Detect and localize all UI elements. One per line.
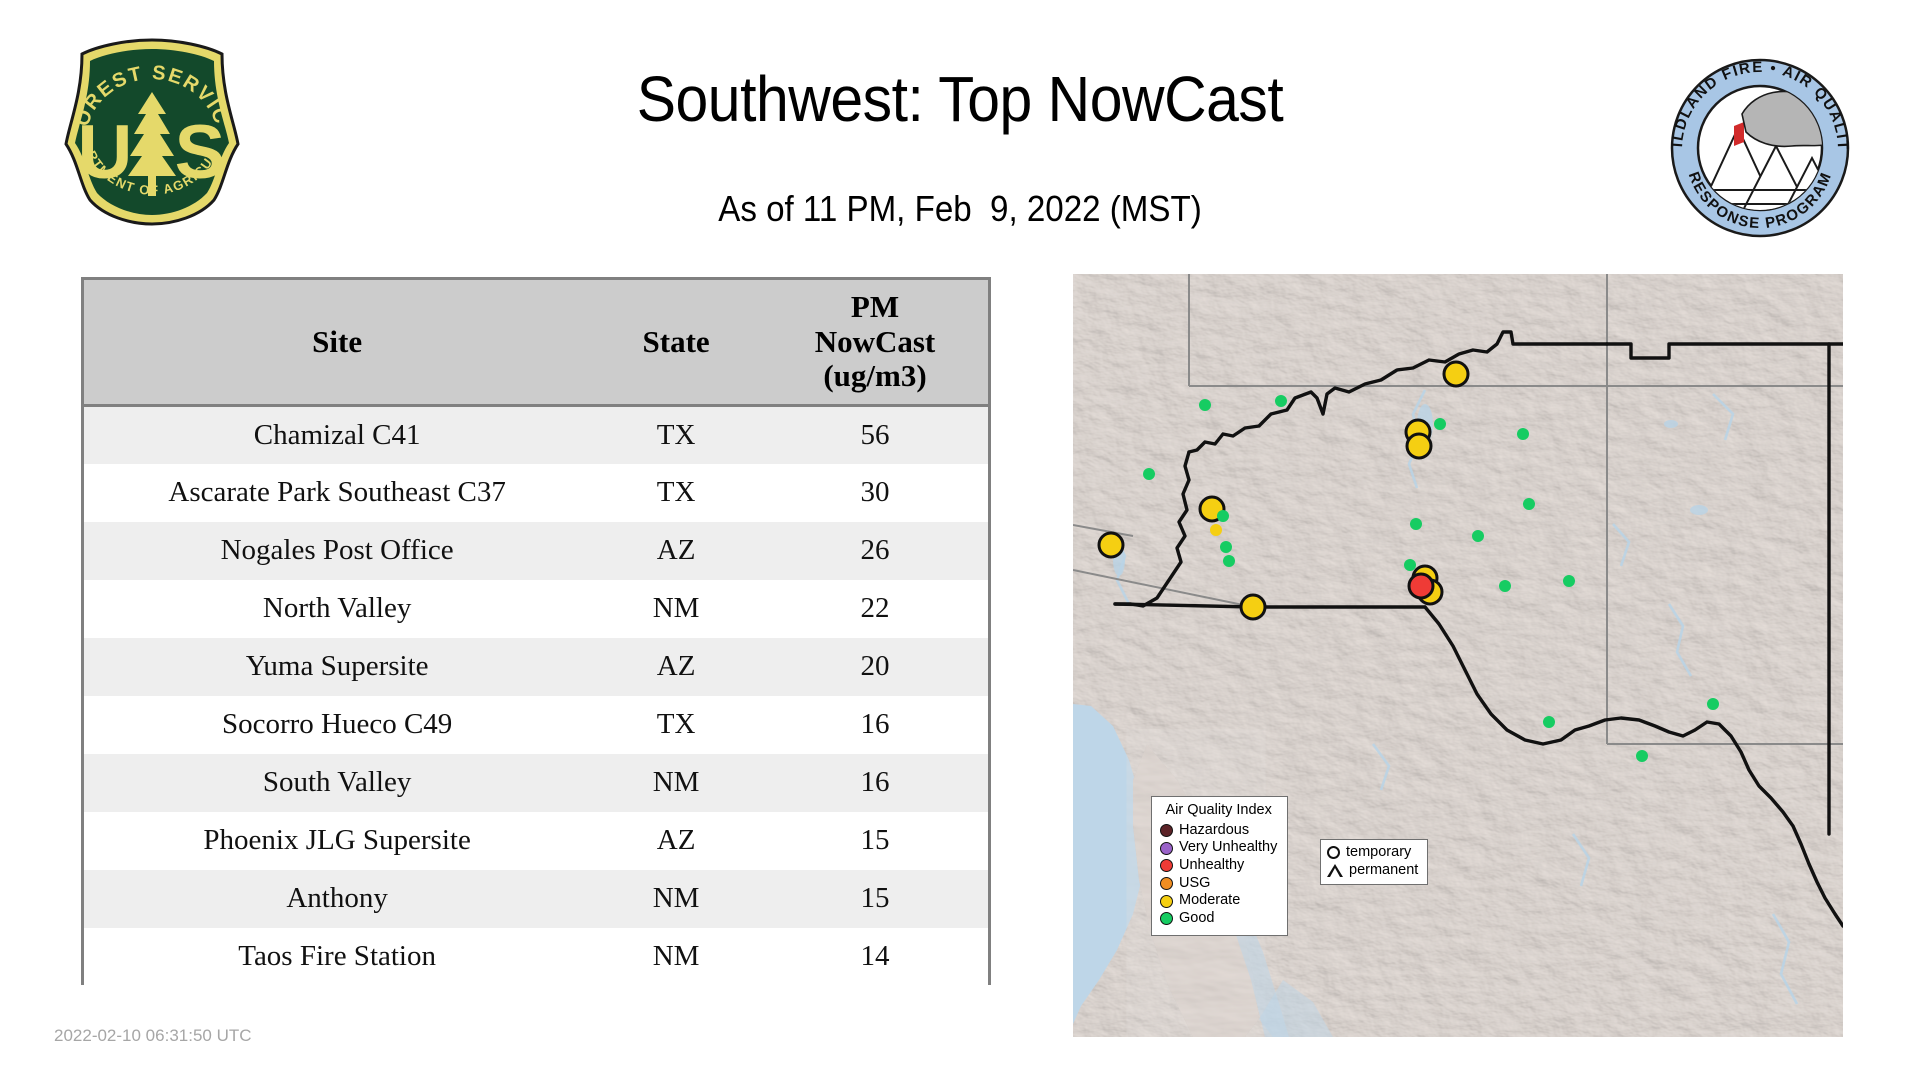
monitor-marker[interactable] xyxy=(1275,395,1287,407)
table-header-row: Site State PM NowCast (ug/m3) xyxy=(84,280,988,406)
table-row: Chamizal C41TX56 xyxy=(84,406,988,464)
cell-pm: 56 xyxy=(762,406,988,464)
cell-site: Nogales Post Office xyxy=(84,522,590,580)
monitor-marker[interactable] xyxy=(1523,498,1535,510)
cell-pm: 30 xyxy=(762,464,988,522)
monitor-marker[interactable] xyxy=(1220,541,1232,553)
svg-text:S: S xyxy=(175,110,226,195)
monitor-marker[interactable] xyxy=(1707,698,1719,710)
temporary-monitor-icon xyxy=(1327,846,1340,859)
table-row: Ascarate Park Southeast C37TX30 xyxy=(84,464,988,522)
southwest-aqi-map[interactable]: Air Quality Index HazardousVery Unhealth… xyxy=(1073,274,1843,1037)
table-row: Yuma SupersiteAZ20 xyxy=(84,638,988,696)
legend-label-temporary: temporary xyxy=(1346,844,1411,862)
cell-state: NM xyxy=(590,870,762,928)
aqi-legend-label: Unhealthy xyxy=(1179,857,1244,875)
aqi-legend-label: Good xyxy=(1179,910,1214,928)
wfaqrp-logo: WILDLAND FIRE • AIR QUALITY RESPONSE PRO… xyxy=(1660,50,1860,245)
table-row: Taos Fire StationNM14 xyxy=(84,928,988,986)
cell-state: AZ xyxy=(590,638,762,696)
column-header-site: Site xyxy=(84,280,590,406)
cell-pm: 15 xyxy=(762,812,988,870)
table-row: North ValleyNM22 xyxy=(84,580,988,638)
cell-site: Chamizal C41 xyxy=(84,406,590,464)
top-nowcast-table: Site State PM NowCast (ug/m3) Chamizal C… xyxy=(81,277,991,985)
monitor-marker[interactable] xyxy=(1407,434,1431,458)
legend-row-temporary: temporary xyxy=(1327,844,1418,862)
aqi-swatch-icon xyxy=(1160,895,1173,908)
cell-pm: 16 xyxy=(762,754,988,812)
aqi-legend-label: USG xyxy=(1179,875,1210,893)
monitor-marker[interactable] xyxy=(1517,428,1529,440)
cell-state: AZ xyxy=(590,522,762,580)
monitor-marker[interactable] xyxy=(1472,530,1484,542)
table-row: Socorro Hueco C49TX16 xyxy=(84,696,988,754)
monitor-marker[interactable] xyxy=(1143,468,1155,480)
aqi-swatch-icon xyxy=(1160,877,1173,890)
legend-label-permanent: permanent xyxy=(1349,862,1418,880)
aqi-legend-row: Hazardous xyxy=(1160,822,1277,840)
aqi-swatch-icon xyxy=(1160,859,1173,872)
cell-state: NM xyxy=(590,580,762,638)
monitor-marker[interactable] xyxy=(1563,575,1575,587)
aqi-legend-label: Moderate xyxy=(1179,892,1240,910)
cell-site: Ascarate Park Southeast C37 xyxy=(84,464,590,522)
legend-row-permanent: permanent xyxy=(1327,862,1418,880)
aqi-legend-row: Good xyxy=(1160,910,1277,928)
monitor-marker[interactable] xyxy=(1223,555,1235,567)
generated-timestamp: 2022-02-10 06:31:50 UTC xyxy=(54,1026,252,1046)
monitor-marker[interactable] xyxy=(1241,595,1265,619)
cell-state: TX xyxy=(590,406,762,464)
monitor-marker[interactable] xyxy=(1434,418,1446,430)
svg-text:U: U xyxy=(78,110,133,195)
column-header-pm-nowcast: PM NowCast (ug/m3) xyxy=(762,280,988,406)
cell-pm: 16 xyxy=(762,696,988,754)
column-header-state: State xyxy=(590,280,762,406)
cell-site: Phoenix JLG Supersite xyxy=(84,812,590,870)
cell-pm: 22 xyxy=(762,580,988,638)
cell-site: Socorro Hueco C49 xyxy=(84,696,590,754)
aqi-legend-label: Very Unhealthy xyxy=(1179,839,1277,857)
monitor-marker[interactable] xyxy=(1636,750,1648,762)
monitor-marker[interactable] xyxy=(1210,524,1222,536)
page-title: Southwest: Top NowCast xyxy=(353,62,1567,136)
cell-pm: 26 xyxy=(762,522,988,580)
aqi-legend-row: USG xyxy=(1160,875,1277,893)
cell-site: Anthony xyxy=(84,870,590,928)
slide-root: FOREST SERVICE DEPARTMENT OF AGRICULTURE… xyxy=(0,0,1920,1080)
monitor-marker[interactable] xyxy=(1199,399,1211,411)
permanent-monitor-icon xyxy=(1327,864,1343,877)
monitor-marker[interactable] xyxy=(1410,518,1422,530)
cell-state: NM xyxy=(590,928,762,986)
cell-site: North Valley xyxy=(84,580,590,638)
aqi-swatch-icon xyxy=(1160,842,1173,855)
monitor-marker[interactable] xyxy=(1444,362,1468,386)
cell-pm: 20 xyxy=(762,638,988,696)
aqi-legend-row: Unhealthy xyxy=(1160,857,1277,875)
cell-state: TX xyxy=(590,464,762,522)
page-subtitle: As of 11 PM, Feb 9, 2022 (MST) xyxy=(353,188,1567,230)
aqi-legend-label: Hazardous xyxy=(1179,822,1249,840)
cell-site: Taos Fire Station xyxy=(84,928,590,986)
monitor-marker[interactable] xyxy=(1217,510,1229,522)
aqi-legend-row: Moderate xyxy=(1160,892,1277,910)
monitor-marker[interactable] xyxy=(1499,580,1511,592)
table-row: South ValleyNM16 xyxy=(84,754,988,812)
aqi-swatch-icon xyxy=(1160,824,1173,837)
monitor-marker[interactable] xyxy=(1543,716,1555,728)
aqi-swatch-icon xyxy=(1160,912,1173,925)
cell-site: South Valley xyxy=(84,754,590,812)
cell-site: Yuma Supersite xyxy=(84,638,590,696)
monitor-marker[interactable] xyxy=(1404,559,1416,571)
monitor-marker[interactable] xyxy=(1409,574,1433,598)
usfs-shield-logo: FOREST SERVICE DEPARTMENT OF AGRICULTURE… xyxy=(52,34,252,229)
aqi-legend-title: Air Quality Index xyxy=(1160,802,1277,820)
aqi-legend-row: Very Unhealthy xyxy=(1160,839,1277,857)
cell-state: AZ xyxy=(590,812,762,870)
aqi-legend: Air Quality Index HazardousVery Unhealth… xyxy=(1151,796,1288,936)
table-row: AnthonyNM15 xyxy=(84,870,988,928)
cell-pm: 15 xyxy=(762,870,988,928)
table-row: Phoenix JLG SupersiteAZ15 xyxy=(84,812,988,870)
monitor-marker[interactable] xyxy=(1099,533,1123,557)
monitor-type-legend: temporary permanent xyxy=(1320,839,1428,885)
cell-state: NM xyxy=(590,754,762,812)
cell-pm: 14 xyxy=(762,928,988,986)
cell-state: TX xyxy=(590,696,762,754)
table-row: Nogales Post OfficeAZ26 xyxy=(84,522,988,580)
